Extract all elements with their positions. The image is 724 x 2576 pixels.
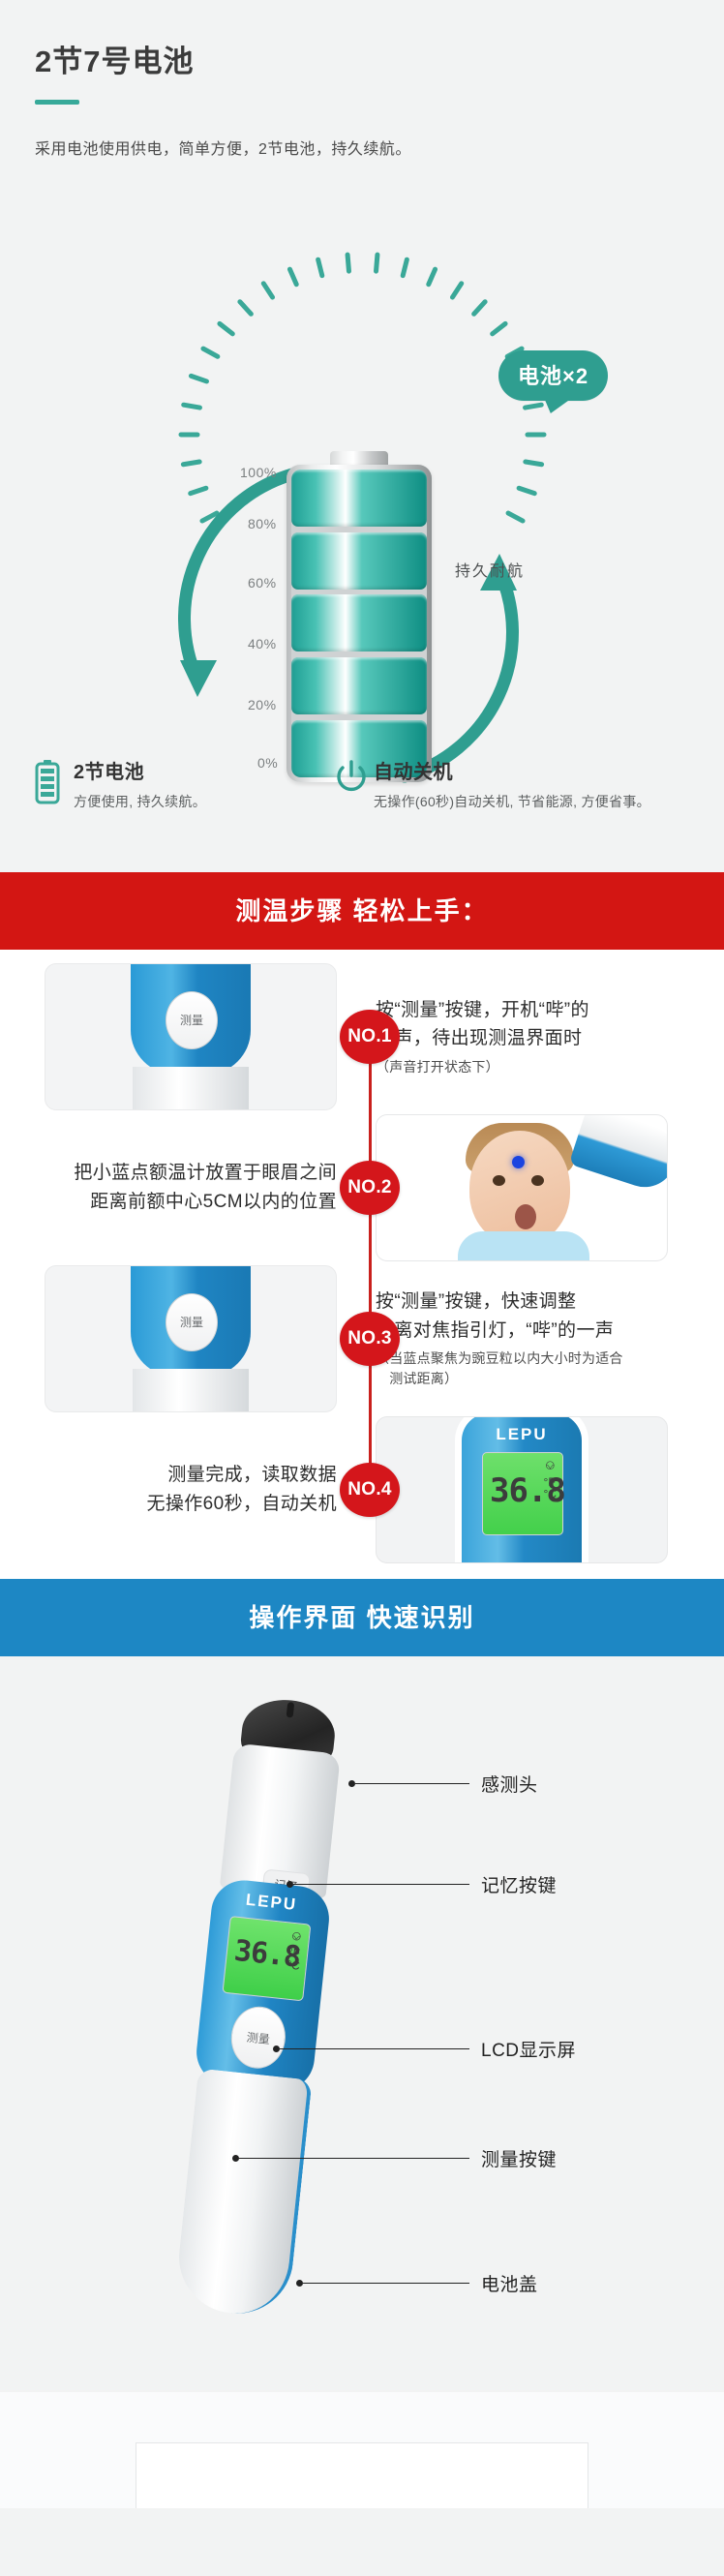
tick-mark [400,257,409,279]
tick-mark [345,252,351,273]
tick-mark [188,373,209,384]
interface-banner: 操作界面 快速识别 [0,1579,724,1656]
callout-section: 记忆 LEPU ⎉ 36.8 °F °C 测量 感测头 [0,1656,724,2392]
tick-mark [216,320,235,338]
step-note: （当蓝点聚焦为豌豆粒以内大小时为适合 测试距离） [376,1349,623,1389]
feature-auto-off: 自动关机 无操作(60秒)自动关机, 节省能源, 方便省事。 [335,756,650,811]
callout-label: 电池盖 [481,2270,538,2296]
brand-label: LEPU [462,1425,582,1444]
footer-white-box [136,2442,588,2508]
callout-label: 记忆按键 [481,1871,557,1897]
step-text-line: 按“测量”按键，快速调整 [376,1288,623,1316]
blue-aiming-dot [512,1156,525,1168]
callout-dot [232,2155,239,2162]
battery-cell [291,657,427,714]
callout-measure-button: 测量按键 [232,2145,557,2171]
tick-mark [374,252,380,273]
step-text-line: 无操作60秒，自动关机 [146,1490,337,1518]
tick-mark [425,266,437,288]
battery-cells [291,470,427,777]
battery-cell [291,594,427,652]
callout-dot [273,2046,280,2052]
step-item: 测量完成，读取数据 无操作60秒，自动关机 NO.4 LEPU ⎉ 36.8 °… [0,1416,724,1563]
callout-line [293,1884,469,1885]
feature-heading: 自动关机 [374,756,650,784]
tick-mark [200,346,222,360]
step-media-side: LEPU ⎉ 36.8 °F °C [354,1416,709,1563]
tick-mark [181,402,203,410]
tick-mark [236,298,255,318]
tick-mark [287,266,299,288]
feature-text: 无操作(60秒)自动关机, 节省能源, 方便省事。 [374,792,650,811]
battery-section: 2节7号电池 采用电池使用供电，简单方便，2节电池，持久续航。 电池×2 [0,20,724,872]
baby-eye-right [531,1175,544,1186]
battery-shell [287,465,432,782]
step-item: 测量 NO.1 按“测量”按键，开机“哔”的 一声，待出现测温界面时 （声音打开… [0,963,724,1110]
callout-dot [287,1881,293,1888]
lcd-screen: ⎉ 36.8 °F °C [482,1452,563,1535]
step-text-line: 把小蓝点额温计放置于眼眉之间 [74,1159,337,1187]
title-underline-rule [35,100,79,105]
thermometer-diagram: 记忆 LEPU ⎉ 36.8 °F °C 测量 [158,1693,367,2324]
battery-illustration: 电池×2 [0,174,724,774]
callout-label: 测量按键 [481,2145,557,2171]
feature-heading: 2节电池 [74,756,206,784]
lcd-reading-photo: LEPU ⎉ 36.8 °F °C [376,1416,668,1563]
footer-card-area [0,2392,724,2508]
callout-battery-cover: 电池盖 [296,2270,538,2296]
lcd-unit-c: °C [287,1957,301,1972]
battery-count-bubble: 电池×2 [498,350,608,401]
step-note: （声音打开状态下） [376,1057,589,1077]
battery-cell [291,470,427,527]
step-text-side: 把小蓝点额温计放置于眼眉之间 距离前额中心5CM以内的位置 [0,1159,354,1216]
step-item: 把小蓝点额温计放置于眼眉之间 距离前额中心5CM以内的位置 NO.2 [0,1114,724,1261]
page-title: 2节7号电池 [0,20,724,78]
callout-lcd-screen: LCD显示屏 [273,2036,576,2062]
device-measure-button: 测量 [166,991,218,1049]
gauge-label-80: 80% [248,516,277,531]
callout-line [303,2283,469,2284]
gauge-label-60: 60% [248,575,277,591]
callout-dot [296,2280,303,2287]
baby-mouth [515,1204,536,1229]
battery-graphic [287,465,432,782]
step-badge-4: NO.4 [340,1463,400,1517]
battery-feature-row: 2节电池 方便使用, 持久续航。 自动关机 无操作(60秒)自动关机, 节省能源… [0,756,724,811]
tick-mark [260,280,276,300]
callout-label: 感测头 [481,1771,538,1797]
battery-cell [291,532,427,590]
tick-mark [489,320,508,338]
step-item: 测量 NO.3 按“测量”按键，快速调整 距离对焦指引灯，“哔”的一声 （当蓝点… [0,1265,724,1412]
tick-mark [178,432,199,437]
step-text-line: 测量完成，读取数据 [146,1461,337,1489]
power-icon [335,756,374,800]
step-text-line: 距离前额中心5CM以内的位置 [74,1188,337,1216]
gauge-label-40: 40% [248,636,277,652]
lcd-unit: °F °C [287,1946,302,1971]
step-badge-3: NO.3 [340,1312,400,1366]
step-media-side [354,1114,709,1261]
tick-mark [316,257,325,279]
battery-icon [35,756,74,809]
tick-mark [470,298,489,318]
step-text-line: 距离对焦指引灯，“哔”的一声 [376,1317,623,1345]
callout-label: LCD显示屏 [481,2036,576,2062]
battery-subtitle: 采用电池使用供电，简单方便，2节电池，持久续航。 [0,120,724,159]
step-text-line: 按“测量”按键，开机“哔”的 [376,996,589,1024]
product-detail-page: 2节7号电池 采用电池使用供电，简单方便，2节电池，持久续航。 电池×2 [0,0,724,2508]
device-button-photo: 测量 [45,1265,337,1412]
step-media-side: 测量 [0,1265,354,1412]
callout-line [355,1783,469,1784]
tick-mark [523,402,545,410]
tick-mark [525,432,546,437]
baby-eye-left [493,1175,505,1186]
lcd-unit-c: °C [544,1487,557,1500]
step-text-line: 一声，待出现测温界面时 [376,1024,589,1052]
baby-body [458,1231,589,1261]
device-head: LEPU ⎉ 36.8 °F °C [462,1416,582,1563]
step-media-side: 测量 [0,963,354,1110]
device-measure-button: 测量 [166,1293,218,1351]
baby-measure-photo [376,1114,668,1261]
step-badge-2: NO.2 [340,1161,400,1215]
callout-line [280,2048,469,2049]
callout-memory-button: 记忆按键 [287,1871,557,1897]
step-text-side: 按“测量”按键，开机“哔”的 一声，待出现测温界面时 （声音打开状态下） [354,996,709,1077]
gauge-label-100: 100% [240,465,277,480]
lcd-screen: ⎉ 36.8 °F °C [222,1916,311,2001]
step-badge-1: NO.1 [340,1010,400,1064]
durability-label: 持久耐航 [455,558,525,581]
feature-battery: 2节电池 方便使用, 持久续航。 [35,756,335,811]
steps-section: 测量 NO.1 按“测量”按键，开机“哔”的 一声，待出现测温界面时 （声音打开… [0,950,724,1579]
tick-mark [449,280,465,300]
step-text-side: 按“测量”按键，快速调整 距离对焦指引灯，“哔”的一声 （当蓝点聚焦为豌豆粒以内… [354,1288,709,1389]
steps-banner: 测温步骤 轻松上手： [0,872,724,950]
lcd-unit: °F °C [544,1476,557,1500]
callout-sensor-head: 感测头 [348,1771,538,1797]
callout-line [239,2158,469,2159]
device-button-photo: 测量 [45,963,337,1110]
gauge-label-20: 20% [248,697,277,712]
device-handle-battery-cover [173,2068,312,2318]
callout-dot [348,1780,355,1787]
step-text-side: 测量完成，读取数据 无操作60秒，自动关机 [0,1461,354,1518]
feature-text: 方便使用, 持久续航。 [74,792,206,811]
